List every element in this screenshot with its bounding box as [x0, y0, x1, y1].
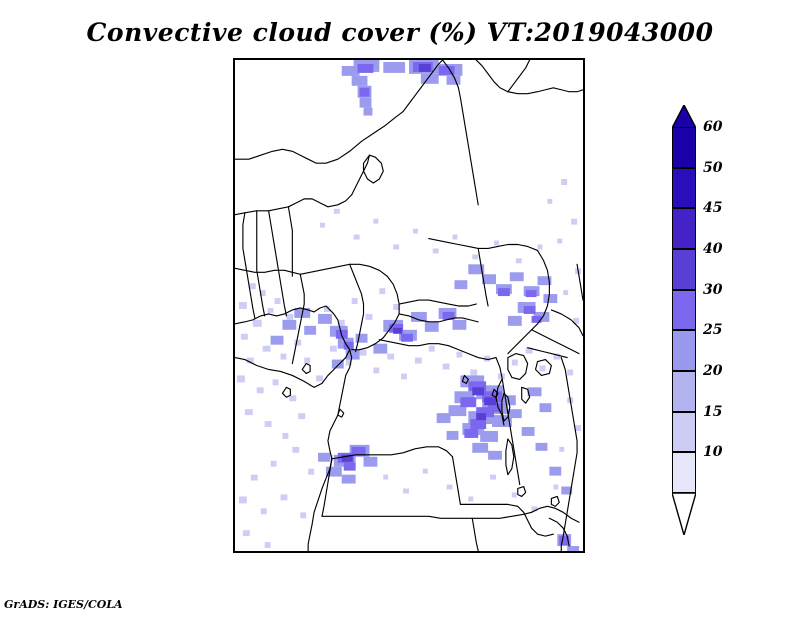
colorbar-label-60: 60	[703, 119, 722, 135]
colorbar-band-45-50	[672, 208, 696, 249]
y-tick-5S	[233, 404, 235, 405]
y-tick-20N	[233, 111, 235, 112]
y-tick-5N	[233, 287, 235, 288]
colorbar-label-20: 20	[703, 363, 722, 379]
colorbar-label-45: 45	[703, 200, 722, 216]
colorbar-band-15-20	[672, 412, 696, 453]
colorbar-band-25-30	[672, 330, 696, 371]
colorbar-band-60-plus	[672, 127, 696, 168]
map-plot-area: 20N 15N 10N 5N EQ 5S 10S 15S 3E 6E 9E 12…	[233, 58, 585, 553]
y-tick-15S	[233, 521, 235, 522]
colorbar-label-30: 30	[703, 282, 722, 298]
convective-cloud-shading	[237, 60, 581, 551]
colorbar-cap-above	[672, 105, 696, 128]
y-tick-EQ	[233, 345, 235, 346]
colorbar-label-15: 15	[703, 404, 722, 420]
colorbar-cap-below	[672, 493, 696, 535]
colorbar-band-20-25	[672, 371, 696, 412]
colorbar: 60 50 45 40 30 25 20 15 10	[672, 127, 696, 493]
page-title: Convective cloud cover (%) VT:2019043000	[0, 18, 800, 47]
map-canvas	[235, 60, 583, 551]
colorbar-label-10: 10	[703, 444, 722, 460]
y-tick-10N	[233, 228, 235, 229]
y-tick-15N	[233, 170, 235, 171]
colorbar-label-40: 40	[703, 241, 722, 257]
grads-credit: GrADS: IGES/COLA	[4, 598, 123, 611]
colorbar-band-10-15	[672, 452, 696, 493]
colorbar-label-50: 50	[703, 160, 722, 176]
colorbar-band-50-60	[672, 168, 696, 209]
colorbar-label-25: 25	[703, 322, 722, 338]
y-tick-10S	[233, 462, 235, 463]
colorbar-band-30-40	[672, 290, 696, 331]
colorbar-band-40-45	[672, 249, 696, 290]
